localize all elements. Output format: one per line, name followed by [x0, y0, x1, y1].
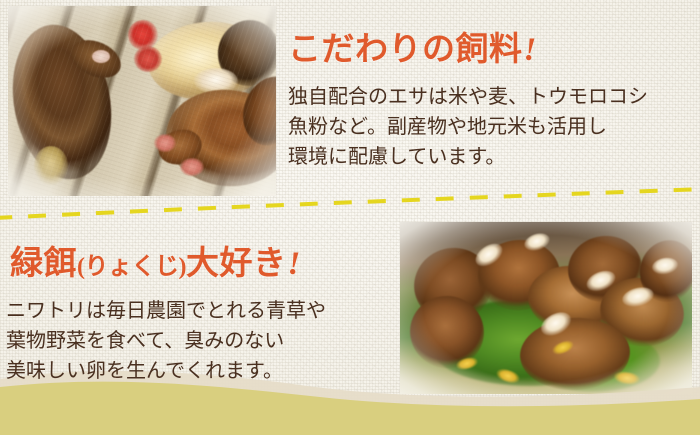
chickens-eating-greens-photo [400, 222, 692, 394]
body-feed: 独自配合のエサは米や麦、トウモロコシ 魚粉など。副産物や地元米も活用し 環境に配… [288, 82, 648, 172]
chickens-at-feed-trough-photo [8, 6, 276, 196]
heading-green-tail: 大好き [186, 246, 287, 282]
heading-feed-bang: ! [523, 32, 537, 68]
photo-feed-grain [8, 6, 276, 196]
body-green-line-2: 葉物野菜を食べて、臭みのない [6, 326, 326, 356]
heading-green-main: 緑餌 [10, 246, 77, 282]
body-feed-line-2: 魚粉など。副産物や地元米も活用し [288, 112, 648, 142]
heading-green-ruby: (りょくじ) [77, 254, 186, 280]
heading-green-bang: ! [286, 246, 300, 282]
heading-feed: こだわりの飼料! [288, 22, 537, 70]
body-green: ニワトリは毎日農園でとれる青草や 葉物野菜を食べて、臭みのない 美味しい卵を生ん… [6, 296, 326, 386]
body-feed-line-3: 環境に配慮しています。 [288, 142, 648, 172]
heading-feed-main: こだわりの飼料 [288, 32, 523, 68]
photo-feed-content [8, 6, 276, 196]
body-feed-line-1: 独自配合のエサは米や麦、トウモロコシ [288, 82, 648, 112]
body-green-line-1: ニワトリは毎日農園でとれる青草や [6, 296, 326, 326]
photo-green-content [400, 222, 692, 394]
poster: こだわりの飼料! 独自配合のエサは米や麦、トウモロコシ 魚粉など。副産物や地元米… [0, 0, 700, 435]
heading-green: 緑餌(りょくじ)大好き! [10, 236, 301, 284]
body-green-line-3: 美味しい卵を生んでくれます。 [6, 356, 326, 386]
